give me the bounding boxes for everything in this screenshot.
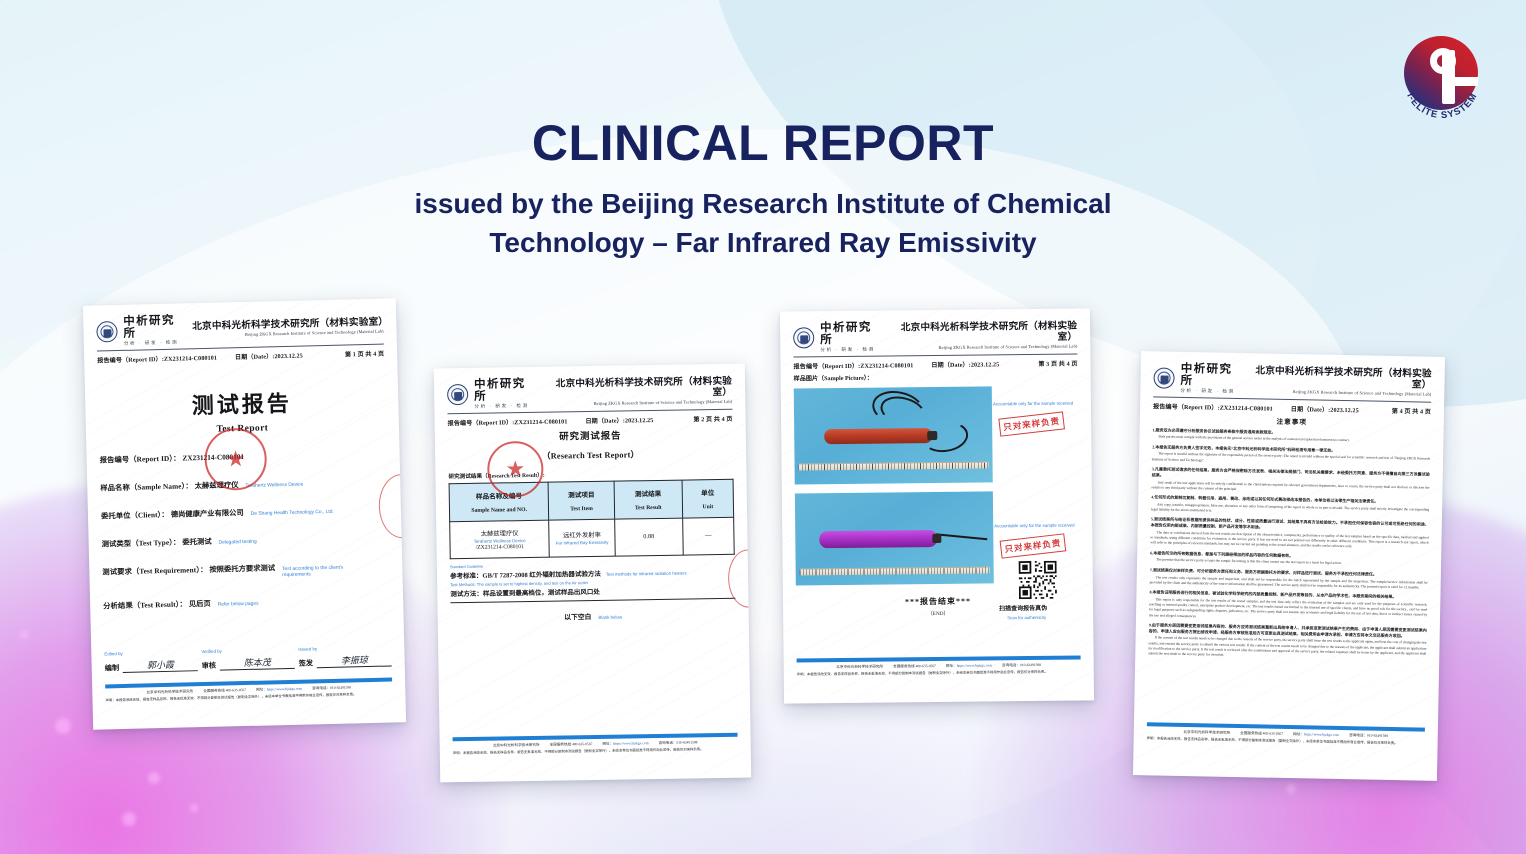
institute-name-cn: 北京中科光析科学技术研究所（材料实验室）: [1247, 367, 1432, 391]
doc2-title-en: （Research Test Report）: [448, 446, 733, 462]
signature-ink: 陈本茂: [220, 654, 295, 671]
institute-header: 中析研究所 分析 · 研发 · 检测 北京中科光析科学技术研究所（材料实验室） …: [447, 376, 732, 410]
institute-seal-name: 中析研究所: [1180, 364, 1241, 388]
field-value-en: Delegated testing: [219, 540, 257, 547]
standard-en: Test methods for infrared radiation heat…: [606, 570, 687, 576]
institute-seal-subtitle: 分析 · 研发 · 检测: [1180, 389, 1241, 395]
standard-cn: 参考标准：GB/T 7287-2008 红外辐射加热器试验方法: [450, 570, 601, 579]
signature-block: Issued by 签发李振琼: [298, 645, 392, 669]
notices-title: 注意事项: [1153, 413, 1431, 428]
test-item-cn: 远红外发射率: [552, 530, 612, 540]
table-row: 太赫兹理疗仪 Terahertz Wellness Device /ZX2312…: [450, 517, 735, 558]
headline-block: CLINICAL REPORT issued by the Beijing Re…: [0, 118, 1526, 262]
field-value: 见后页: [189, 599, 211, 610]
header-cn: 单位: [685, 486, 731, 497]
field-value-en: Terahertz Wellness Device: [245, 482, 303, 490]
report-page-2[interactable]: 中析研究所 分析 · 研发 · 检测 北京中科光析科学技术研究所（材料实验室） …: [434, 364, 751, 783]
institute-seal-icon: [1153, 368, 1174, 389]
notice-en: If the content of the test results needs…: [1148, 636, 1426, 662]
purple-device: [819, 530, 937, 548]
header-en: Sample Name and NO.: [452, 506, 546, 513]
unit-value: —: [685, 532, 731, 540]
institute-name-cn: 北京中科光析科学技术研究所（材料实验室）: [542, 377, 732, 400]
power-cord: [935, 533, 987, 540]
table-header-cell: 单位Unit: [682, 479, 734, 518]
report-id-value: ZX231214-C080101: [514, 419, 567, 426]
logo-arc-text: I-ELITE SYSTEM: [1396, 32, 1488, 124]
field-label: 报告编号（Report ID）：: [100, 453, 181, 465]
institute-seal-subtitle: 分析 · 研发 · 检测: [820, 348, 882, 353]
footer-accent-bar: [797, 656, 1081, 663]
report-date-label: 日期（Date）:: [585, 418, 625, 425]
field-value: ZX231214-C080101: [182, 452, 244, 463]
signature-role-en: Verified by: [201, 647, 294, 654]
footer-hotline: 全国服务热线 400-635-0567: [550, 742, 593, 748]
logo-text-label: I-ELITE SYSTEM: [1404, 91, 1479, 121]
header-en: Unit: [685, 503, 731, 510]
field-row: 样品名称（Sample Name）：太赫兹理疗仪Terahertz Wellne…: [100, 476, 387, 493]
report-id-value: ZX231214-C080101: [860, 363, 913, 370]
report-id-label: 报告编号（Report ID）:: [448, 420, 515, 427]
doc2-title-cn: 研究测试报告: [448, 425, 733, 443]
field-value: 太赫兹理疗仪: [195, 480, 239, 491]
report-page-number: 第 3 页 共 4 页: [1038, 358, 1077, 367]
footer-org: 北京中科光析科学技术研究所: [1183, 730, 1230, 736]
report-page-number: 第 1 页 共 4 页: [345, 348, 384, 358]
field-label: 委托单位（Client）：: [101, 510, 169, 522]
signature-row: Edited by 编制郭小霞 Verified by 审核陈本茂 Issued…: [104, 645, 391, 674]
signature-block: Verified by 审核陈本茂: [201, 647, 295, 671]
page-subtitle: issued by the Beijing Research Institute…: [368, 185, 1158, 262]
footer-web-link[interactable]: https://www.bjzkgx.com: [613, 741, 648, 746]
footer-tel: 咨询电话：010-82491598: [1349, 733, 1388, 739]
footer-org: 北京中科光析科学技术研究所: [836, 665, 883, 670]
table-header-cell: 测试结果Test Result: [614, 480, 683, 519]
header-divider: [447, 408, 732, 413]
report-meta-row: 报告编号（Report ID）:ZX231214-C080101 日期（Date…: [448, 413, 733, 426]
footer-tel: 咨询电话：010-82491598: [1002, 663, 1041, 668]
header-en: Test Item: [551, 505, 611, 512]
sample-photo-purple-device: [795, 491, 994, 585]
field-row: 委托单位（Client）：德尚健康产业有限公司De Shang Health T…: [101, 504, 388, 521]
institute-seal-name: 中析研究所: [123, 315, 186, 340]
brand-logo: I-ELITE SYSTEM: [1396, 32, 1488, 124]
report-page-number: 第 2 页 共 4 页: [693, 413, 732, 423]
bokeh-dot: [190, 804, 198, 812]
field-row: 测试类型（Test Type）：委托测试Delegated testing: [102, 532, 389, 549]
field-value: 按照委托方要求测试: [209, 563, 275, 575]
institute-seal-subtitle: 分析 · 研发 · 检测: [124, 340, 187, 346]
field-value-en: Test according to the client's requireme…: [282, 565, 368, 579]
footer-web-link[interactable]: https://www.bjzkgx.com: [957, 664, 992, 668]
blank-below-en: Blank below: [598, 614, 622, 619]
report-id-label: 报告编号（Report ID）:: [1153, 404, 1220, 411]
report-page-number: 第 4 页 共 4 页: [1392, 406, 1431, 416]
footer-hotline: 全国服务热线 400-635-0567: [203, 688, 246, 694]
report-date-value: 2023.12.25: [971, 362, 999, 368]
doc2-result-label: 研究测试结果（Research Test Result）:: [448, 467, 733, 479]
footer-web-label: 网址：: [1293, 732, 1304, 736]
bokeh-dot: [122, 812, 136, 826]
cell-sample-name: 太赫兹理疗仪 Terahertz Wellness Device /ZX2312…: [450, 520, 550, 559]
signature-ink: 郭小霞: [123, 657, 198, 674]
institute-seal-icon: [96, 321, 118, 343]
bokeh-dot: [55, 718, 71, 734]
footer-web-label: 网址：: [602, 742, 613, 746]
footer-org: 北京中科光析科学技术研究所: [146, 690, 193, 696]
notice-en: This report is only responsible for the …: [1149, 597, 1427, 623]
footer-tel: 咨询电话：010-82491598: [658, 741, 697, 747]
footer-web-link[interactable]: https://www.bjzkgx.com: [267, 687, 302, 692]
page-footer: 北京中科光析科学技术研究所 全国服务热线 400-635-0567 网址：htt…: [453, 733, 738, 756]
test-item-en: Far Infrared Ray Emissivity: [552, 540, 612, 546]
standard-divider: [450, 598, 735, 603]
test-result-value: 0.88: [617, 533, 680, 541]
field-label: 测试要求（Test Requirement）：: [102, 565, 207, 578]
field-label: 样品名称（Sample Name）：: [100, 481, 193, 493]
institute-name-en: Beijing ZKGX Research Institute of Scien…: [1247, 389, 1431, 397]
institute-name-cn: 北京中科光析科学技术研究所（材料实验室）: [888, 322, 1077, 344]
institute-header: 中析研究所 分析 · 研发 · 检测 北京中科光析科学技术研究所（材料实验室） …: [96, 311, 384, 348]
blank-below-cn: 以下空白: [564, 614, 591, 621]
measuring-ruler: [800, 566, 990, 575]
field-value: 委托测试: [182, 537, 211, 548]
header-en: Test Result: [617, 504, 680, 511]
institute-seal-name: 中析研究所: [820, 323, 882, 347]
svg-text:I-ELITE SYSTEM: I-ELITE SYSTEM: [1404, 91, 1479, 121]
sample-name-cn: 太赫兹理疗仪: [452, 527, 547, 537]
field-value: 德尚健康产业有限公司: [171, 508, 244, 520]
report-date-label: 日期（Date）:: [931, 362, 971, 368]
bokeh-dot: [20, 630, 29, 639]
signature-role-cn: 编制: [105, 663, 120, 673]
cell-unit: —: [683, 517, 735, 555]
bokeh-dot: [148, 772, 160, 784]
signature-role-cn: 签发: [299, 659, 314, 669]
field-value-en: De Shang Health Technology Co., Ltd.: [251, 510, 334, 518]
page-footer: 北京中科光析科学技术研究所 全国服务热线 400-635-0567 网址：htt…: [797, 656, 1081, 678]
doc1-title-cn: 测试报告: [98, 383, 386, 422]
header-cn: 测试结果: [616, 487, 679, 498]
field-label: 测试类型（Test Type）：: [102, 537, 181, 549]
institute-seal-subtitle: 分析 · 研发 · 检测: [474, 404, 536, 410]
header-divider: [793, 353, 1077, 357]
report-id-label: 报告编号（Report ID）:: [794, 363, 861, 370]
institute-name-en: Beijing ZKGX Research Institute of Scien…: [543, 399, 733, 406]
signature-role-cn: 审核: [202, 661, 217, 671]
report-meta-row: 报告编号（Report ID）:ZX231214-C080101 日期（Date…: [97, 348, 384, 364]
report-id-label: 报告编号（Report ID）:: [97, 357, 164, 365]
institute-header: 中析研究所 分析 · 研发 · 检测 北京中科光析科学技术研究所（材料实验室） …: [793, 321, 1077, 354]
institute-seal-name: 中析研究所: [474, 379, 537, 403]
page-footer: 北京中科光析科学技术研究所 全国服务热线 400-635-0567 网址：htt…: [1147, 723, 1425, 747]
sample-id: /ZX231214-C080101: [453, 543, 547, 550]
report-page-4[interactable]: 中析研究所 分析 · 研发 · 检测 北京中科光析科学技术研究所（材料实验室） …: [1133, 351, 1445, 781]
header-cn: 测试项目: [551, 488, 611, 499]
method-cn: 测试方法：样品设置到最高档位，测试样品出风口处: [450, 589, 600, 598]
field-value-en: Refer below pages: [218, 602, 259, 609]
footer-web-label: 网址：: [256, 688, 267, 692]
bokeh-dot: [1286, 784, 1296, 794]
footer-web-link[interactable]: https://www.bjzkgx.com: [1304, 733, 1339, 738]
signature-block: Edited by 编制郭小霞: [104, 650, 198, 674]
report-page-1[interactable]: 中析研究所 分析 · 研发 · 检测 北京中科光析科学技术研究所（材料实验室） …: [83, 298, 406, 730]
report-meta-row: 报告编号（Report ID）:ZX231214-C080101 日期（Date…: [793, 358, 1077, 370]
sample-photo-red-device: [794, 386, 993, 484]
report-date-label: 日期（Date）:: [1291, 407, 1331, 414]
signature-role-en: Issued by: [298, 645, 391, 652]
institute-header: 中析研究所 分析 · 研发 · 检测 北京中科光析科学技术研究所（材料实验室） …: [1153, 363, 1432, 398]
footer-hotline: 全国服务热线 400-635-0567: [893, 664, 936, 669]
field-label: 分析结果（Test Result）：: [103, 600, 187, 612]
table-header-row: 样品名称及编号Sample Name and NO. 测试项目Test Item…: [449, 479, 734, 521]
header-cn: 样品名称及编号: [452, 489, 547, 500]
test-result-table: 样品名称及编号Sample Name and NO. 测试项目Test Item…: [449, 478, 735, 558]
page-title: CLINICAL REPORT: [0, 118, 1526, 168]
table-header-cell: 样品名称及编号Sample Name and NO.: [449, 482, 549, 522]
footer-org: 北京中科光析科学技术研究所: [493, 743, 540, 749]
field-row: 测试要求（Test Requirement）：按照委托方要求测试Test acc…: [102, 560, 389, 583]
report-id-value: ZX231214-C080101: [164, 355, 217, 362]
doc1-title-en: Test Report: [99, 420, 386, 437]
cell-test-result: 0.88: [614, 518, 683, 556]
footer-hotline: 全国服务热线 400-635-0567: [1240, 731, 1283, 737]
page-footer: 北京中科光析科学技术研究所 全国服务热线 400-635-0567 网址：htt…: [105, 678, 392, 704]
notice-en: The data or conclusions derived from the…: [1150, 530, 1428, 551]
institute-seal-icon: [447, 384, 468, 405]
report-date-value: 2023.12.25: [1330, 407, 1359, 414]
signature-ink: 李振琼: [317, 652, 392, 669]
institute-seal-icon: [793, 328, 814, 349]
report-end-cn: ***报告结束***: [796, 594, 1080, 608]
cell-test-item: 远红外发射率 Far Infrared Ray Emissivity: [549, 519, 615, 557]
report-date-value: 2023.12.25: [274, 353, 303, 360]
sample-picture-label: 样品图片（Sample Picture）：: [794, 370, 1078, 382]
table-header-cell: 测试项目Test Item: [548, 481, 614, 520]
report-date-label: 日期（Date）:: [235, 354, 275, 361]
footer-tel: 咨询电话：010-82491598: [312, 686, 351, 692]
report-date-value: 2023.12.25: [625, 418, 654, 424]
footer-web-label: 网址：: [946, 664, 957, 668]
footer-disclaimer: 声明：本报告涂改无效、报告无样品名称、报告无批准无效、不得部分复制本测试报告（复…: [797, 670, 1081, 678]
signature-role-en: Edited by: [104, 650, 197, 657]
field-row: 报告编号（Report ID）：ZX231214-C080101: [100, 448, 387, 465]
report-page-3[interactable]: 中析研究所 分析 · 研发 · 检测 北京中科光析科学技术研究所（材料实验室） …: [780, 308, 1094, 703]
institute-name-en: Beijing ZKGX Research Institute of Scien…: [888, 344, 1077, 350]
measuring-ruler: [799, 461, 989, 470]
red-device: [824, 428, 932, 444]
field-row: 分析结果（Test Result）：见后页Refer below pages: [103, 595, 390, 612]
report-id-value: ZX231214-C080101: [1220, 405, 1273, 412]
